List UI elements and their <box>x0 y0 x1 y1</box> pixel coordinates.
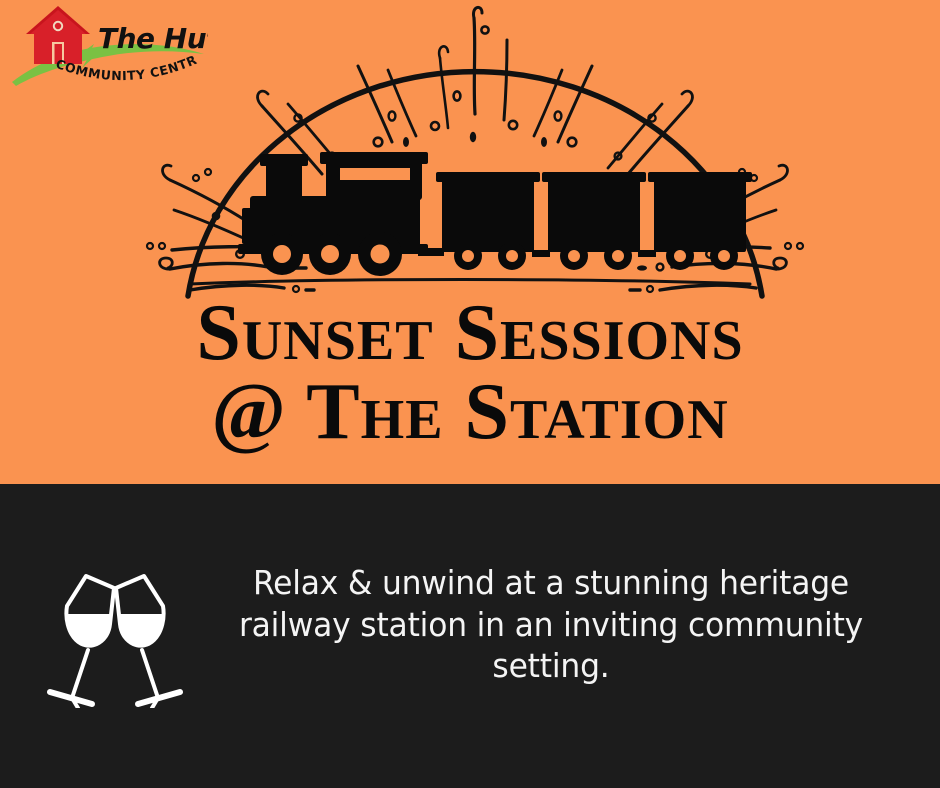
ground-line <box>190 280 750 285</box>
ray-dot-c4 <box>431 122 439 130</box>
speed-dot-r1 <box>785 243 791 249</box>
carriage-3-roof <box>648 172 752 182</box>
ray-dot-l8 <box>205 169 211 175</box>
carriage-2-body <box>548 178 640 252</box>
ray-dot-c3 <box>470 132 476 142</box>
carriage-1-wheel-b-hub <box>506 250 518 262</box>
ray-dot-c2 <box>454 91 461 100</box>
ray-dot-l4 <box>294 114 301 121</box>
loco-cab-window <box>340 168 410 180</box>
left-glass-stem <box>72 650 88 698</box>
poster-title: Sunset Sessions @ The Station <box>0 296 940 450</box>
ray-l3-curl <box>258 91 268 106</box>
carriage-1-wheel-a-hub <box>462 250 474 262</box>
wine-glasses-graphic <box>40 558 190 708</box>
coupling-2 <box>532 250 550 257</box>
ray-dot-c5 <box>509 121 517 129</box>
loco-front-plate <box>242 208 256 244</box>
carriage-2-wheel-a-hub <box>568 250 580 262</box>
carriage-3-body <box>654 178 746 252</box>
tagline-panel: Relax & unwind at a stunning heritage ra… <box>0 484 940 788</box>
loco-smokestack-cap <box>260 154 308 166</box>
carriage-2-wheel-b-hub <box>612 250 624 262</box>
hero-panel: The Hut COMMUNITY CENTRE <box>0 0 940 484</box>
carriage-1-roof <box>436 172 540 182</box>
speed-dot-l2 <box>159 243 165 249</box>
carriage-3-wheel-b-hub <box>718 250 730 262</box>
ray-dot-r2 <box>555 111 562 120</box>
speed-curl-r <box>774 258 787 269</box>
clinking-wine-glasses-icon <box>40 558 190 708</box>
ray-center-b <box>504 40 507 120</box>
carriage-1-body <box>442 178 534 252</box>
carriage-2-roof <box>542 172 646 182</box>
ray-center-a <box>474 18 475 114</box>
ray-dot-l7 <box>193 175 199 181</box>
speed-dot-l1 <box>147 243 153 249</box>
ray-dot-r3 <box>568 138 577 147</box>
ray-center-curl <box>473 7 482 18</box>
steam-train-silhouette <box>238 152 752 276</box>
ray-dot-l1 <box>403 137 409 147</box>
ray-dot-r1 <box>541 137 547 147</box>
loco-smokestack <box>266 162 302 202</box>
ray-dot-l3 <box>374 138 383 147</box>
speed-line-l2 <box>170 263 268 269</box>
event-poster: The Hut COMMUNITY CENTRE <box>0 0 940 788</box>
loco-wheel-2-hub <box>321 245 339 263</box>
ray-dot-r4 <box>648 114 655 121</box>
coupling-1 <box>418 248 444 256</box>
carriage-3-wheel-a-hub <box>674 250 686 262</box>
loco-wheel-3-hub <box>371 245 390 264</box>
ray-center-c-curl <box>439 46 448 58</box>
tagline-text: Relax & unwind at a stunning heritage ra… <box>214 562 889 687</box>
ray-r5-curl <box>779 165 787 180</box>
ray-center-c <box>440 58 448 128</box>
ray-l1 <box>358 66 392 142</box>
coupling-3 <box>638 250 656 257</box>
sun-train-graphic <box>130 0 820 306</box>
loco-wheel-1-hub <box>273 245 291 263</box>
ray-l5-curl <box>163 165 171 180</box>
title-line-1: Sunset Sessions <box>0 296 940 371</box>
ray-r1 <box>558 66 592 142</box>
right-glass-stem <box>142 650 158 698</box>
ray-r3-curl <box>682 91 692 106</box>
title-line-2: @ The Station <box>0 375 940 450</box>
loco-cab-roof <box>320 152 428 164</box>
speed-dot-r2 <box>797 243 803 249</box>
ray-dot-l2 <box>389 111 396 120</box>
sun-and-train-artwork <box>130 0 820 306</box>
speed-curl-l <box>160 258 173 269</box>
speed-dot-r3 <box>637 265 647 270</box>
speed-dot-r4 <box>657 264 664 271</box>
ray-dot-c1 <box>481 26 488 33</box>
